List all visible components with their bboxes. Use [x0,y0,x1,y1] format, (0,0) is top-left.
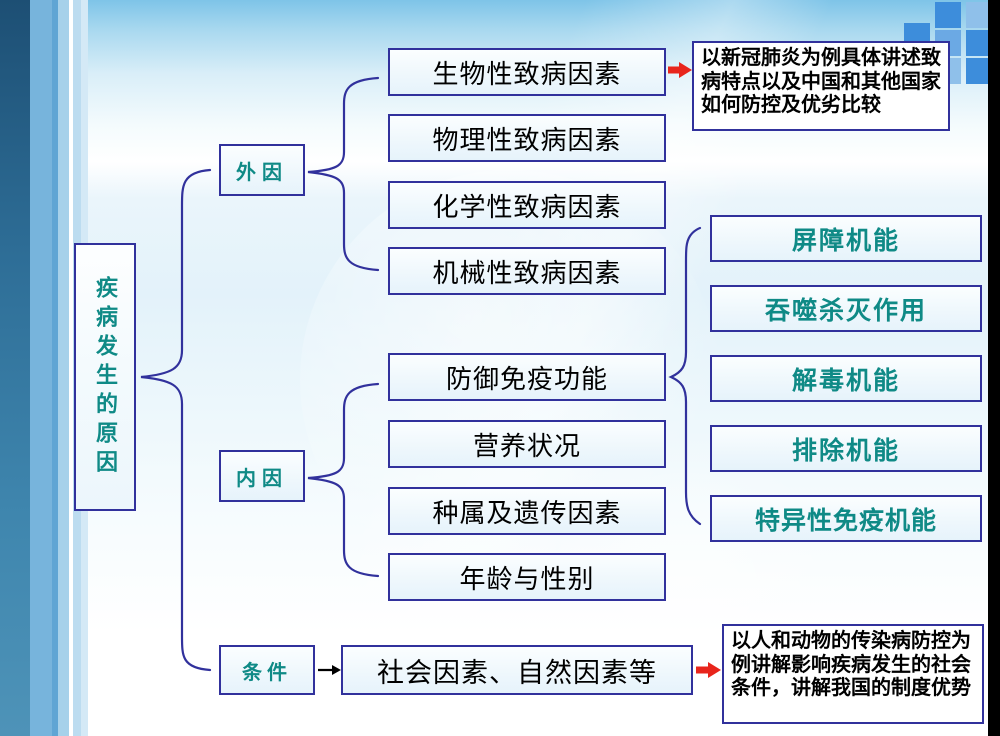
internal-factor-label-4: 年龄与性别 [459,559,594,596]
note-bottom-right-text: 以人和动物的传染病防控为例讲解影响疾病发生的社会条件，讲解我国的制度优势 [731,628,971,699]
branch-internal-label: 内因 [236,462,288,491]
branch-internal-factors[interactable]: 内因 [219,450,305,502]
internal-factor-label-3: 种属及遗传因素 [432,493,621,530]
external-factor-label-4: 机械性致病因素 [432,253,621,290]
branch-condition-label: 条件 [242,656,292,685]
note-top-right-text: 以新冠肺炎为例具体讲述致病特点以及中国和其他国家如何防控及优劣比较 [701,45,941,116]
immune-mechanism-label-5: 特异性免疫机能 [755,501,937,537]
external-factor-box-1[interactable]: 生物性致病因素 [388,48,666,96]
internal-factor-box-2[interactable]: 营养状况 [388,420,666,468]
sidebar-stripe-dark [0,0,30,736]
note-top-right[interactable]: 以新冠肺炎为例具体讲述致病特点以及中国和其他国家如何防控及优劣比较 [692,41,950,131]
condition-value-box[interactable]: 社会因素、自然因素等 [341,645,693,695]
immune-mechanism-label-3: 解毒机能 [792,361,900,397]
right-black-edge [988,0,1000,736]
immune-mechanism-box-4[interactable]: 排除机能 [710,425,982,472]
root-node-label: 疾病发生的原因 [94,276,116,479]
immune-mechanism-box-2[interactable]: 吞噬杀灭作用 [710,285,982,332]
internal-factor-label-1: 防御免疫功能 [446,359,608,396]
internal-factor-label-2: 营养状况 [473,426,581,463]
external-factor-label-2: 物理性致病因素 [432,120,621,157]
immune-mechanism-box-3[interactable]: 解毒机能 [710,355,982,402]
branch-external-factors[interactable]: 外因 [219,144,305,196]
external-factor-box-4[interactable]: 机械性致病因素 [388,247,666,295]
external-factor-label-3: 化学性致病因素 [432,187,621,224]
root-node-disease-causes[interactable]: 疾病发生的原因 [74,243,136,511]
immune-mechanism-box-1[interactable]: 屏障机能 [710,215,982,262]
branch-external-label: 外因 [236,156,288,185]
note-bottom-right[interactable]: 以人和动物的传染病防控为例讲解影响疾病发生的社会条件，讲解我国的制度优势 [722,624,984,724]
immune-mechanism-label-4: 排除机能 [792,431,900,467]
internal-factor-box-1[interactable]: 防御免疫功能 [388,353,666,401]
internal-factor-box-3[interactable]: 种属及遗传因素 [388,487,666,535]
external-factor-box-2[interactable]: 物理性致病因素 [388,114,666,162]
sidebar-stripe-medium [30,0,52,736]
condition-value-label: 社会因素、自然因素等 [377,651,657,690]
external-factor-label-1: 生物性致病因素 [432,54,621,91]
branch-condition[interactable]: 条件 [219,645,315,695]
immune-mechanism-box-5[interactable]: 特异性免疫机能 [710,495,982,542]
immune-mechanism-label-2: 吞噬杀灭作用 [765,291,927,327]
internal-factor-box-4[interactable]: 年龄与性别 [388,553,666,601]
immune-mechanism-label-1: 屏障机能 [792,221,900,257]
external-factor-box-3[interactable]: 化学性致病因素 [388,181,666,229]
slide-canvas: 疾病发生的原因 外因 内因 条件 生物性致病因素 物理性致病因素 化学性致病因素… [0,0,1000,736]
sidebar-stripe-light [58,0,69,736]
